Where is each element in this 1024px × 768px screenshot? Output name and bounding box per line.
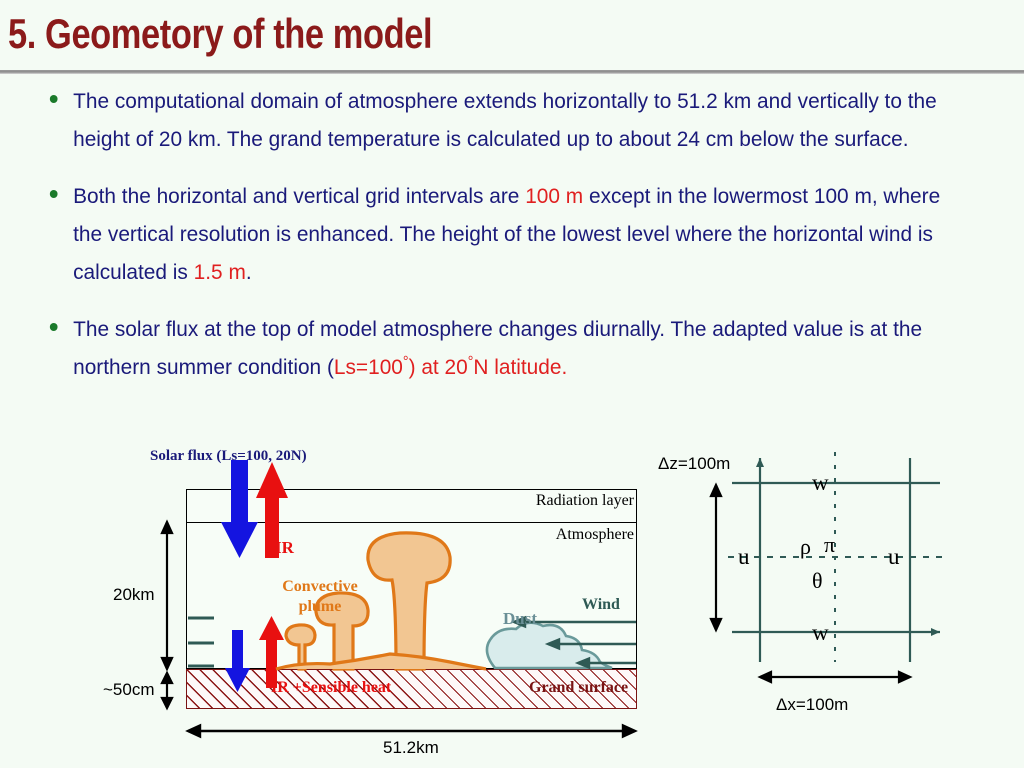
height-20km-label: 20km: [113, 585, 155, 605]
bullet-solar-ls: Ls=100: [334, 355, 403, 379]
grid-theta-label: θ: [812, 568, 823, 594]
bullet-solar-text-3: N latitude.: [473, 355, 567, 379]
solar-flux-down-arrow-icon: [221, 460, 258, 558]
w-up-arrowhead-icon: [756, 458, 764, 467]
convective-plume-line2: plume: [299, 598, 342, 615]
wind-label: Wind: [582, 596, 620, 614]
dx-measure-arrow: [760, 672, 910, 682]
staggered-grid-vectors: [650, 440, 960, 768]
bullet-grid-text-3: .: [246, 260, 252, 284]
bullet-dot-icon: [50, 190, 58, 198]
depth-50cm-measure-arrow: [162, 673, 172, 708]
bullet-grid-value-1p5m: 1.5 m: [194, 260, 246, 284]
bullet-grid-value-100m: 100 m: [525, 184, 583, 208]
dx-label: Δx=100m: [776, 695, 848, 715]
title-divider: [0, 70, 1024, 74]
bullet-list: The computational domain of atmosphere e…: [44, 82, 984, 405]
grid-u-right-label: u: [888, 544, 900, 570]
dz-label: Δz=100m: [658, 454, 730, 474]
ir-sensible-heat-label: IR +Sensible heat: [271, 679, 391, 697]
depth-50cm-label: ~50cm: [103, 680, 155, 700]
surface-solar-down-arrow-icon: [225, 630, 250, 692]
vertical-grid-level-ticks: [188, 618, 214, 666]
page-title: 5. Geometory of the model: [8, 8, 835, 60]
grid-w-bottom-label: w: [812, 620, 829, 646]
convective-plume-line1: Convective: [282, 578, 358, 595]
ir-label: IR: [275, 538, 294, 558]
bullet-grid-text-1: Both the horizontal and vertical grid in…: [73, 184, 525, 208]
bullet-solar: The solar flux at the top of model atmos…: [44, 310, 956, 386]
convective-plume-label: Convective plume: [272, 577, 368, 617]
height-20km-measure-arrow: [162, 522, 172, 669]
bullet-solar-text-2: ) at 20: [409, 355, 468, 379]
bullet-dot-icon: [50, 95, 58, 103]
u-right-arrowhead-icon: [931, 628, 940, 636]
model-geometry-figure: Solar flux (Ls=100, 20N) Radiation layer…: [0, 440, 1024, 768]
dz-measure-arrow: [711, 485, 721, 630]
bullet-domain-text: The computational domain of atmosphere e…: [73, 89, 937, 151]
grand-surface-label: Grand surface: [529, 679, 628, 697]
grid-rho-label: ρ: [800, 534, 811, 560]
dust-label: Dust: [503, 609, 537, 629]
bullet-grid: Both the horizontal and vertical grid in…: [44, 177, 956, 291]
bullet-domain: The computational domain of atmosphere e…: [44, 82, 956, 158]
grid-pi-label: π: [824, 532, 835, 558]
width-51p2km-label: 51.2km: [383, 738, 439, 758]
surface-ir-up-arrow-icon: [259, 616, 284, 688]
grid-w-top-label: w: [812, 470, 829, 496]
grid-u-left-label: u: [738, 544, 750, 570]
bullet-dot-icon: [50, 323, 58, 331]
width-51p2km-measure-arrow: [188, 726, 635, 737]
